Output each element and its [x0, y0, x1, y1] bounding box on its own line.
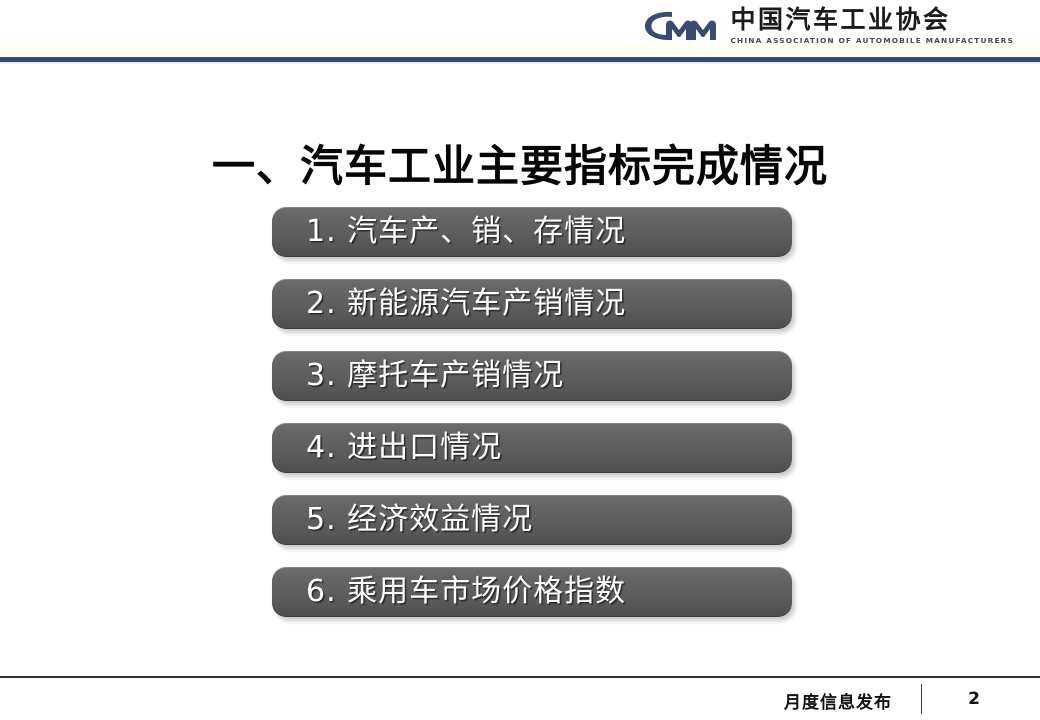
header-tint-band: [0, 44, 1040, 57]
caam-swoosh-logo-icon: [642, 8, 720, 44]
logo-text-block: 中国汽车工业协会 CHINA ASSOCIATION OF AUTOMOBILE…: [730, 6, 1014, 46]
list-item-label: 5. 经济效益情况: [306, 505, 533, 535]
logo-chinese-name: 中国汽车工业协会: [730, 7, 1014, 33]
list-item[interactable]: 4. 进出口情况: [272, 423, 792, 473]
list-item[interactable]: 3. 摩托车产销情况: [272, 351, 792, 401]
list-item[interactable]: 5. 经济效益情况: [272, 495, 792, 545]
list-item-label: 3. 摩托车产销情况: [306, 361, 564, 391]
agenda-list: 1. 汽车产、销、存情况 2. 新能源汽车产销情况 3. 摩托车产销情况 4. …: [272, 207, 792, 617]
slide-header: 中国汽车工业协会 CHINA ASSOCIATION OF AUTOMOBILE…: [0, 0, 1040, 62]
footer-separator: [921, 684, 922, 714]
page-title: 一、汽车工业主要指标完成情况: [0, 132, 1040, 194]
caam-logo: 中国汽车工业协会 CHINA ASSOCIATION OF AUTOMOBILE…: [642, 6, 1014, 46]
list-item-label: 6. 乘用车市场价格指数: [306, 577, 626, 607]
list-item[interactable]: 2. 新能源汽车产销情况: [272, 279, 792, 329]
footer-label: 月度信息发布: [784, 688, 892, 713]
list-item-label: 2. 新能源汽车产销情况: [306, 289, 626, 319]
list-item[interactable]: 1. 汽车产、销、存情况: [272, 207, 792, 257]
presentation-slide: 中国汽车工业协会 CHINA ASSOCIATION OF AUTOMOBILE…: [0, 0, 1040, 720]
slide-footer: 月度信息发布 2: [0, 678, 1040, 720]
header-divider-soft: [0, 62, 1040, 64]
list-item-label: 1. 汽车产、销、存情况: [306, 217, 626, 247]
list-item[interactable]: 6. 乘用车市场价格指数: [272, 567, 792, 617]
page-number: 2: [954, 689, 994, 709]
logo-english-name: CHINA ASSOCIATION OF AUTOMOBILE MANUFACT…: [730, 36, 1014, 46]
list-item-label: 4. 进出口情况: [306, 433, 502, 463]
